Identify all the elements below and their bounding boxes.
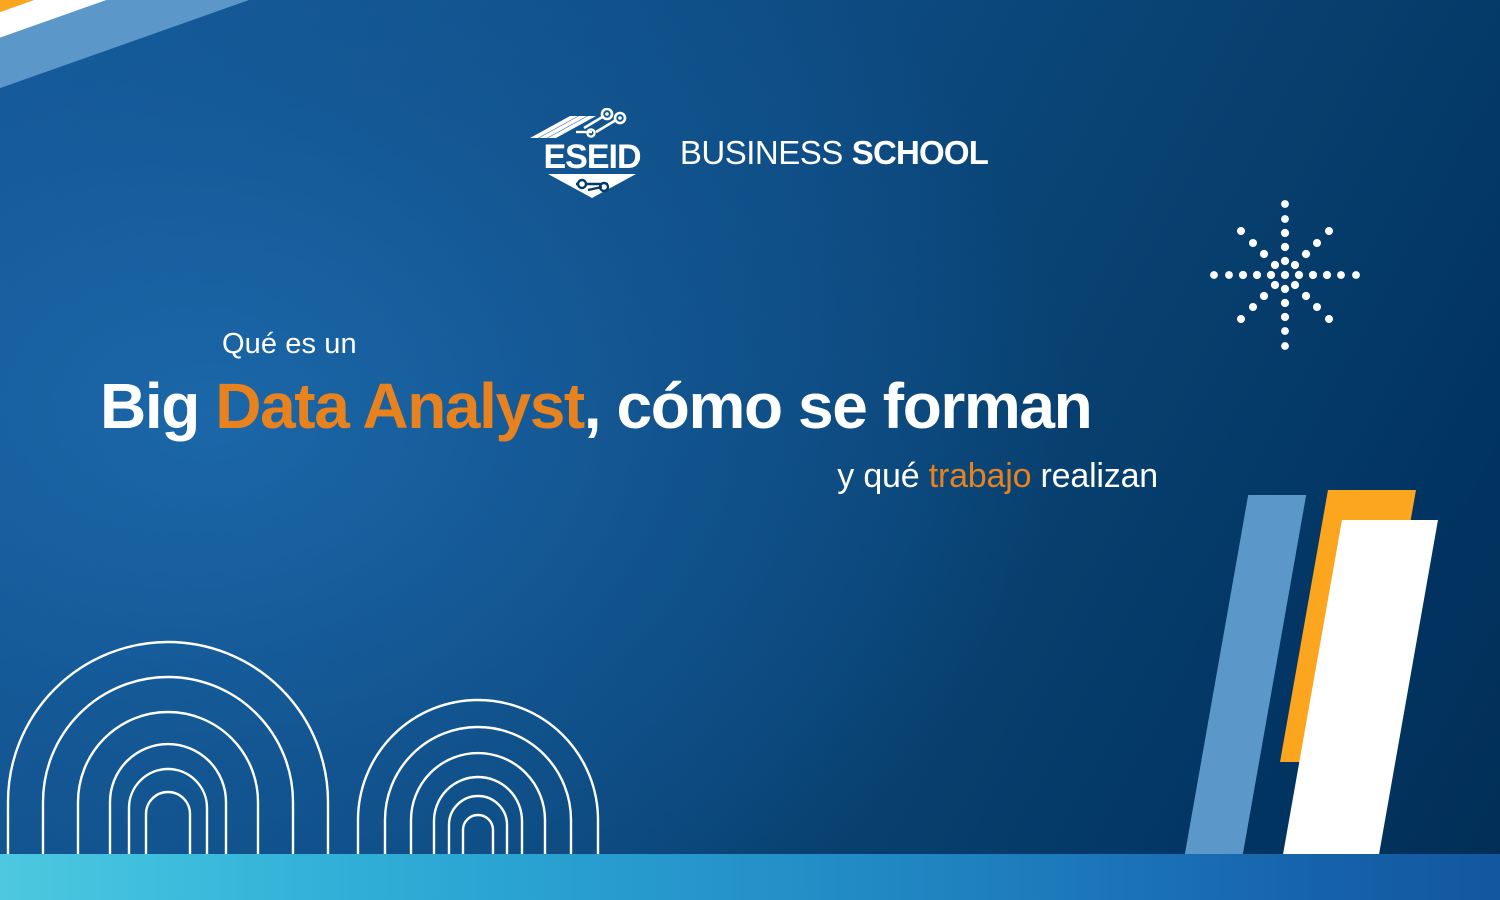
concentric-arches-icon xyxy=(0,624,620,854)
logo-school-label: SCHOOL xyxy=(852,134,988,172)
banner-canvas: ESEID BUSINESS SCHOOL Qué es un Big Data… xyxy=(0,0,1500,900)
brand-logo: ESEID BUSINESS SCHOOL xyxy=(0,108,1500,200)
headline-block: Qué es un Big Data Analyst, cómo se form… xyxy=(0,330,1240,496)
title-highlight: Data Analyst xyxy=(215,370,584,442)
eseid-hexagon-circuit-logo-icon: ESEID xyxy=(512,108,672,200)
bottom-gradient-bar xyxy=(0,854,1500,900)
brand-wordmark: BUSINESS SCHOOL xyxy=(680,134,988,174)
slant-bar-light-blue-icon xyxy=(1184,495,1306,860)
headline-kicker: Qué es un xyxy=(0,330,1240,359)
logo-business-label: BUSINESS xyxy=(680,134,843,172)
title-part-three: , cómo se forman xyxy=(584,370,1092,442)
bottom-right-bars-decoration xyxy=(1200,440,1500,860)
subtitle-highlight: trabajo xyxy=(929,457,1032,495)
subtitle-part-one: y qué xyxy=(837,457,928,495)
title-part-one: Big xyxy=(100,370,215,442)
svg-text:ESEID: ESEID xyxy=(543,138,640,176)
arches-decoration xyxy=(0,624,620,854)
page-subtitle: y qué trabajo realizan xyxy=(0,457,1240,496)
subtitle-part-three: realizan xyxy=(1031,457,1158,495)
page-title: Big Data Analyst, cómo se forman xyxy=(0,371,1240,443)
